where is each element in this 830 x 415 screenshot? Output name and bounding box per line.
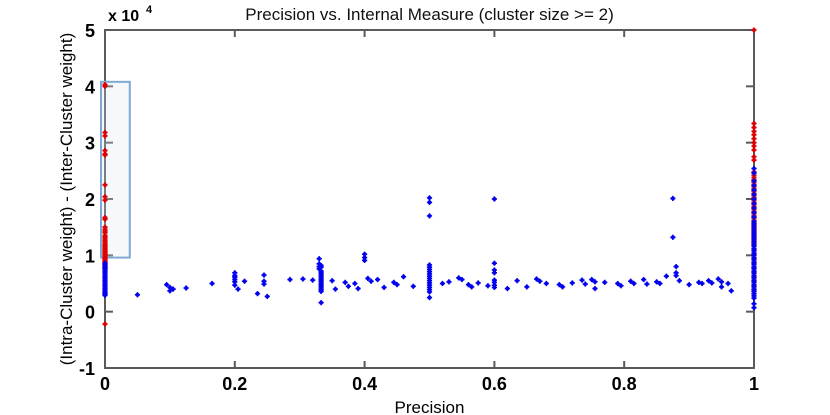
data-point-cross: [584, 281, 586, 286]
data-point-cross: [169, 288, 171, 293]
data-point-cross: [594, 286, 596, 291]
data-point-cross: [364, 258, 366, 263]
data-point-cross: [753, 158, 755, 163]
y-tick-label: -1: [79, 359, 95, 379]
data-point-cross: [688, 282, 690, 287]
data-point-cross: [172, 287, 174, 292]
data-point-cross: [753, 210, 755, 215]
y-tick-label: 5: [85, 21, 95, 41]
data-point-cross: [571, 280, 573, 285]
data-point-cross: [516, 278, 518, 283]
data-point-cross: [429, 295, 431, 300]
data-point-cross: [471, 284, 473, 289]
data-point-cross: [312, 278, 314, 283]
data-point-cross: [396, 282, 398, 287]
data-point-cross: [377, 277, 379, 282]
data-point-cross: [753, 201, 755, 206]
data-point-cross: [263, 272, 265, 277]
data-point-cross: [237, 287, 239, 292]
data-point-cross: [266, 294, 268, 299]
x-axis-label: Precision: [395, 398, 465, 415]
data-point-cross: [630, 279, 632, 284]
data-point-cross: [546, 281, 548, 286]
data-point-cross: [672, 235, 674, 240]
data-point-cross: [393, 280, 395, 285]
data-point-cross: [403, 274, 405, 279]
data-point-cross: [234, 283, 236, 288]
y-tick-label: 0: [85, 303, 95, 323]
data-point-cross: [429, 213, 431, 218]
data-point-cross: [166, 282, 168, 287]
y-axis-label: (Intra-Cluster weight) - (Inter-Cluster …: [57, 33, 76, 366]
data-point-cross: [335, 287, 337, 292]
data-point-cross: [331, 278, 333, 283]
data-point-cross: [672, 196, 674, 201]
y-exponent-label: x 10: [108, 8, 139, 25]
data-point-cross: [753, 214, 755, 219]
data-point-cross: [429, 200, 431, 205]
data-point-cross: [679, 278, 681, 283]
data-point-cross: [698, 280, 700, 285]
data-point-cross: [104, 133, 106, 138]
x-tick-label: 0.8: [612, 374, 637, 394]
data-point-cross: [701, 281, 703, 286]
data-point-cross: [708, 278, 710, 283]
data-point-cross: [104, 321, 106, 326]
data-point-cross: [753, 187, 755, 192]
data-point-cross: [718, 276, 720, 281]
data-point-cross: [104, 84, 106, 89]
data-point-cross: [753, 205, 755, 210]
data-point-cross: [494, 270, 496, 275]
data-point-cross: [458, 275, 460, 280]
data-point-cross: [263, 281, 265, 286]
data-point-cross: [320, 263, 322, 268]
data-point-cross: [753, 296, 755, 301]
data-point-cross: [753, 305, 755, 310]
y-tick-label: 3: [85, 134, 95, 154]
x-tick-label: 1: [749, 374, 759, 394]
data-point-cross: [753, 147, 755, 152]
data-point-cross: [721, 279, 723, 284]
data-point-cross: [185, 285, 187, 290]
data-point-cross: [344, 280, 346, 285]
data-point-cross: [753, 178, 755, 183]
data-point-cross: [753, 166, 755, 171]
data-point-cross: [604, 280, 606, 285]
x-tick-label: 0: [100, 374, 110, 394]
data-point-cross: [646, 281, 648, 286]
series-blue-points: [102, 166, 756, 310]
data-point-cross: [753, 192, 755, 197]
x-tick-label: 0.2: [222, 374, 247, 394]
data-point-cross: [461, 277, 463, 282]
data-point-cross: [633, 281, 635, 286]
data-point-cross: [721, 284, 723, 289]
data-point-cross: [675, 273, 677, 278]
data-point-cross: [104, 182, 106, 187]
data-point-cross: [104, 293, 106, 298]
data-point-cross: [562, 284, 564, 289]
data-point-cross: [591, 277, 593, 282]
data-point-cross: [244, 279, 246, 284]
data-point-cross: [494, 196, 496, 201]
data-point-cross: [526, 284, 528, 289]
data-point-cross: [753, 183, 755, 188]
data-point-cross: [753, 27, 755, 32]
data-point-cross: [412, 284, 414, 289]
data-point-cross: [320, 300, 322, 305]
data-point-cross: [429, 289, 431, 294]
x-tick-label: 0.4: [352, 374, 377, 394]
data-point-cross: [711, 280, 713, 285]
data-point-cross: [429, 195, 431, 200]
data-point-cross: [753, 196, 755, 201]
data-point-cross: [617, 281, 619, 286]
data-point-cross: [468, 282, 470, 287]
data-point-cross: [494, 285, 496, 290]
data-point-cross: [643, 277, 645, 282]
data-point-cross: [367, 276, 369, 281]
data-point-cross: [104, 152, 106, 157]
data-point-cross: [137, 292, 139, 297]
data-point-cross: [302, 276, 304, 281]
data-point-cross: [104, 217, 106, 222]
data-point-cross: [104, 198, 106, 203]
x-tick-label: 0.6: [482, 374, 507, 394]
data-point-cross: [442, 281, 444, 286]
data-point-cross: [354, 281, 356, 286]
chart-figure: 00.20.40.60.81-1012345x 104Precision vs.…: [0, 0, 830, 415]
data-point-cross: [487, 283, 489, 288]
chart-title: Precision vs. Internal Measure (cluster …: [245, 5, 613, 24]
data-point-cross: [507, 286, 509, 291]
data-point-cross: [753, 170, 755, 175]
data-point-cross: [318, 256, 320, 261]
data-point-cross: [357, 286, 359, 291]
data-point-cross: [370, 279, 372, 284]
data-point-cross: [383, 285, 385, 290]
y-exponent-power: 4: [146, 4, 153, 16]
data-point-cross: [620, 283, 622, 288]
y-tick-label: 2: [85, 190, 95, 210]
scatter-plot[interactable]: 00.20.40.60.81-1012345x 104Precision vs.…: [0, 0, 830, 415]
data-point-cross: [559, 282, 561, 287]
data-point-cross: [320, 289, 322, 294]
data-point-cross: [477, 280, 479, 285]
data-point-cross: [581, 278, 583, 283]
data-point-cross: [257, 291, 259, 296]
data-point-cross: [448, 279, 450, 284]
data-point-cross: [666, 274, 668, 279]
data-point-cross: [675, 264, 677, 269]
data-point-cross: [727, 281, 729, 286]
data-point-cross: [594, 279, 596, 284]
y-tick-label: 1: [85, 246, 95, 266]
data-point-cross: [659, 281, 661, 286]
data-point-cross: [730, 288, 732, 293]
data-point-cross: [539, 279, 541, 284]
y-tick-label: 4: [85, 77, 95, 97]
data-point-cross: [656, 279, 658, 284]
data-point-cross: [289, 277, 291, 282]
data-point-cross: [536, 276, 538, 281]
data-point-cross: [211, 281, 213, 286]
data-point-cross: [494, 261, 496, 266]
data-point-cross: [348, 284, 350, 289]
